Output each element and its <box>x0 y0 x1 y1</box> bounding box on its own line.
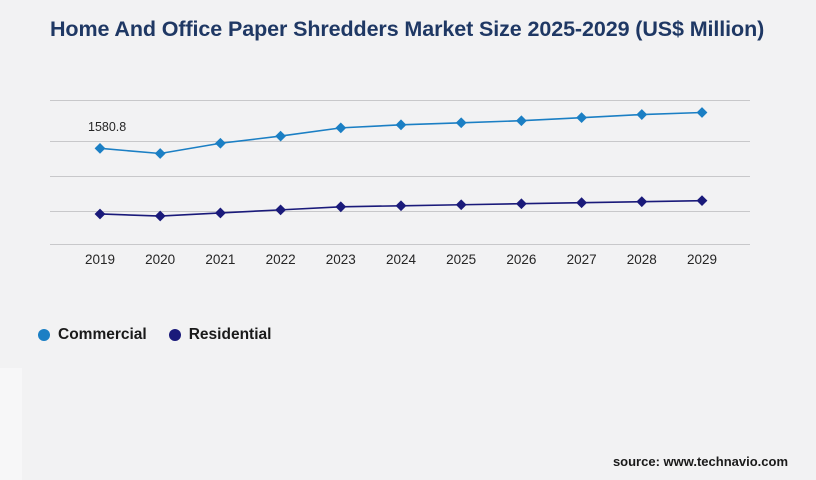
x-tick-2020: 2020 <box>130 252 190 267</box>
x-tick-2019: 2019 <box>70 252 130 267</box>
x-tick-2025: 2025 <box>431 252 491 267</box>
data-point-residential-2029[interactable] <box>697 195 708 206</box>
x-tick-2022: 2022 <box>251 252 311 267</box>
background-panel <box>0 368 22 480</box>
x-tick-2026: 2026 <box>491 252 551 267</box>
x-tick-2023: 2023 <box>311 252 371 267</box>
data-point-residential-2028[interactable] <box>636 196 647 207</box>
chart-legend: CommercialResidential <box>38 322 271 348</box>
x-tick-2029: 2029 <box>672 252 732 267</box>
data-point-commercial-2029[interactable] <box>697 107 708 118</box>
data-point-residential-2025[interactable] <box>456 199 467 210</box>
series-group <box>50 100 750 250</box>
plot-area: 1580.8 <box>50 100 750 250</box>
x-tick-2028: 2028 <box>612 252 672 267</box>
series-line-commercial <box>100 113 702 154</box>
chart-canvas: Home And Office Paper Shredders Market S… <box>0 0 816 480</box>
source-caption: source: www.technavio.com <box>613 454 788 469</box>
data-point-commercial-2023[interactable] <box>335 122 346 133</box>
diamond-marker <box>169 329 181 341</box>
data-point-commercial-2020[interactable] <box>155 148 166 159</box>
data-point-commercial-2021[interactable] <box>215 138 226 149</box>
data-point-residential-2020[interactable] <box>155 211 166 222</box>
data-point-residential-2021[interactable] <box>215 208 226 219</box>
data-point-commercial-2026[interactable] <box>516 115 527 126</box>
data-point-residential-2024[interactable] <box>396 200 407 211</box>
data-point-residential-2019[interactable] <box>95 209 106 220</box>
legend-label-residential: Residential <box>189 326 272 344</box>
data-label-commercial-2019: 1580.8 <box>88 120 126 134</box>
data-point-commercial-2019[interactable] <box>95 143 106 154</box>
legend-item-commercial[interactable]: Commercial <box>38 326 147 344</box>
legend-item-residential[interactable]: Residential <box>169 326 272 344</box>
data-point-commercial-2024[interactable] <box>396 119 407 130</box>
x-axis: 2019202020212022202320242025202620272028… <box>50 252 750 276</box>
chart-title: Home And Office Paper Shredders Market S… <box>50 16 770 43</box>
data-point-commercial-2025[interactable] <box>456 117 467 128</box>
x-tick-2024: 2024 <box>371 252 431 267</box>
x-tick-2021: 2021 <box>190 252 250 267</box>
legend-label-commercial: Commercial <box>58 326 147 344</box>
data-point-commercial-2022[interactable] <box>275 131 286 142</box>
data-point-commercial-2028[interactable] <box>636 109 647 120</box>
x-tick-2027: 2027 <box>552 252 612 267</box>
data-point-residential-2027[interactable] <box>576 197 587 208</box>
data-point-residential-2023[interactable] <box>335 201 346 212</box>
data-point-residential-2026[interactable] <box>516 198 527 209</box>
data-point-residential-2022[interactable] <box>275 204 286 215</box>
diamond-marker <box>38 329 50 341</box>
data-point-commercial-2027[interactable] <box>576 112 587 123</box>
